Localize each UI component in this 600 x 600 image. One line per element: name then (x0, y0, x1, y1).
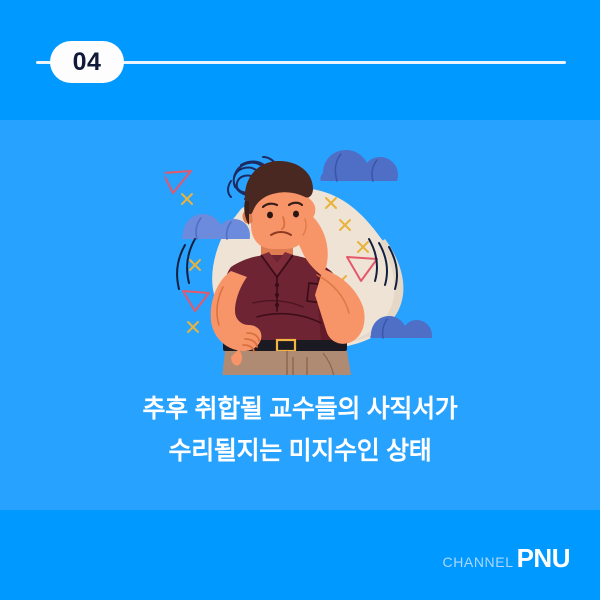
stressed-man-illustration (165, 135, 435, 375)
channel-pnu-logo: CHANNEL PNU (442, 545, 570, 571)
motion-lines-left-icon (177, 239, 195, 289)
caption-line-1: 추후 취합될 교수들의 사직서가 (0, 388, 600, 430)
step-number-label: 04 (73, 50, 102, 75)
logo-channel-text: CHANNEL (442, 555, 513, 569)
triangle-outline-left-icon (165, 171, 191, 193)
caption-line-2: 수리될지는 미지수인 상태 (0, 430, 600, 472)
triangle-outline-bottom-left-icon (183, 291, 209, 311)
caption-text: 추후 취합될 교수들의 사직서가 수리될지는 미지수인 상태 (0, 388, 600, 472)
logo-pnu-text: PNU (517, 545, 570, 571)
info-card: 04 (0, 0, 600, 600)
cloud-right-icon (320, 150, 398, 181)
cloud-bottom-right-icon (370, 316, 432, 338)
step-number-badge: 04 (50, 41, 124, 83)
